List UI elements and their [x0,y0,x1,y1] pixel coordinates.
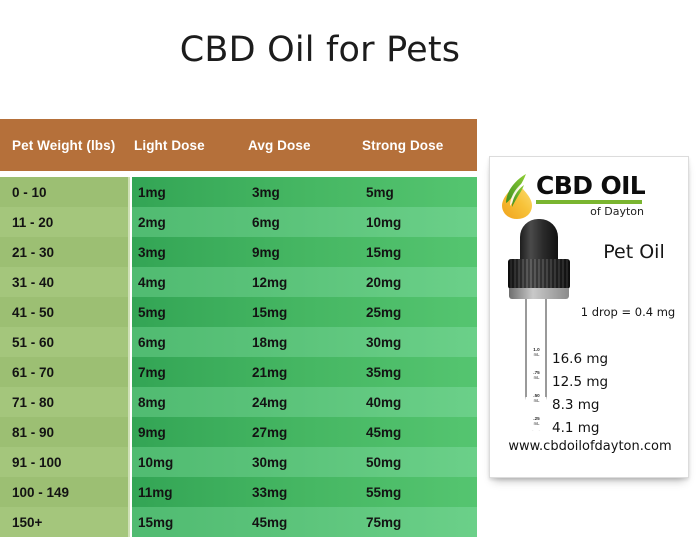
cell-avg-dose: 9mg [252,237,280,267]
pipette-right-edge [545,299,547,397]
dose-table-header: Pet Weight (lbs) Light Dose Avg Dose Str… [0,119,477,171]
column-header-light-dose: Light Dose [134,119,205,171]
cell-avg-dose: 33mg [252,477,287,507]
cell-avg-dose: 15mg [252,297,287,327]
table-row: 81 - 909mg27mg45mg [0,417,477,447]
cell-pet-weight: 21 - 30 [0,237,130,267]
graduation-unit: mL [528,375,545,380]
dropper-dose-list: 16.6 mg12.5 mg8.3 mg4.1 mg [552,347,662,439]
cell-pet-weight: 81 - 90 [0,417,130,447]
table-row: 61 - 707mg21mg35mg [0,357,477,387]
cell-pet-weight: 61 - 70 [0,357,130,387]
table-row: 150+15mg45mg75mg [0,507,477,537]
cell-pet-weight: 51 - 60 [0,327,130,357]
dose-row-background [132,207,477,237]
cell-light-dose: 15mg [138,507,173,537]
cell-light-dose: 4mg [138,267,166,297]
brand-wordmark: CBD OIL of Dayton [536,173,682,218]
droplet-leaf-icon [500,173,534,219]
cell-strong-dose: 5mg [366,177,394,207]
cell-avg-dose: 6mg [252,207,280,237]
table-row: 11 - 202mg6mg10mg [0,207,477,237]
column-header-avg-dose: Avg Dose [248,119,311,171]
table-row: 21 - 303mg9mg15mg [0,237,477,267]
dose-row-background [132,507,477,537]
cell-pet-weight: 100 - 149 [0,477,130,507]
dropper-bulb [520,219,558,263]
cell-strong-dose: 55mg [366,477,401,507]
cell-avg-dose: 24mg [252,387,287,417]
cell-strong-dose: 50mg [366,447,401,477]
dose-row-background [132,267,477,297]
cell-strong-dose: 45mg [366,417,401,447]
graduation-unit: mL [528,398,545,403]
product-label-card: CBD OIL of Dayton Pet Oil 1 drop = 0.4 m… [489,156,689,478]
table-row: 71 - 808mg24mg40mg [0,387,477,417]
cell-pet-weight: 150+ [0,507,130,537]
table-row: 100 - 14911mg33mg55mg [0,477,477,507]
cell-pet-weight: 71 - 80 [0,387,130,417]
cell-pet-weight: 41 - 50 [0,297,130,327]
cell-pet-weight: 0 - 10 [0,177,130,207]
cell-strong-dose: 40mg [366,387,401,417]
table-row: 0 - 101mg3mg5mg [0,177,477,207]
dropper-cap-shading [508,259,570,289]
graduation-unit: mL [528,352,545,357]
dose-row-background [132,387,477,417]
dose-row-background [132,327,477,357]
cell-strong-dose: 15mg [366,237,401,267]
cell-strong-dose: 10mg [366,207,401,237]
graduation-unit: mL [528,421,545,426]
brand-location: of Dayton [536,205,644,218]
dropper-graduation-mark: .25mL [528,416,545,426]
brand-rule [536,200,642,204]
table-row: 31 - 404mg12mg20mg [0,267,477,297]
cell-pet-weight: 31 - 40 [0,267,130,297]
website-url: www.cbdoilofdayton.com [490,439,690,454]
cell-avg-dose: 27mg [252,417,287,447]
dropper-dose-value: 4.1 mg [552,416,662,439]
product-name: Pet Oil [582,241,686,263]
cell-avg-dose: 21mg [252,357,287,387]
cell-pet-weight: 91 - 100 [0,447,130,477]
cell-strong-dose: 75mg [366,507,401,537]
cell-light-dose: 2mg [138,207,166,237]
cell-light-dose: 11mg [138,477,173,507]
dose-row-background [132,447,477,477]
dropper-dose-value: 16.6 mg [552,347,662,370]
table-row: 91 - 10010mg30mg50mg [0,447,477,477]
cell-avg-dose: 45mg [252,507,287,537]
dose-table-body: 0 - 101mg3mg5mg11 - 202mg6mg10mg21 - 303… [0,177,477,539]
dose-row-background [132,477,477,507]
cell-avg-dose: 18mg [252,327,287,357]
dropper-collar [509,288,569,299]
cell-strong-dose: 30mg [366,327,401,357]
page-title: CBD Oil for Pets [0,30,640,70]
dropper-graduation-mark: .75mL [528,370,545,380]
cell-light-dose: 6mg [138,327,166,357]
cell-light-dose: 8mg [138,387,166,417]
cell-strong-dose: 20mg [366,267,401,297]
dose-row-background [132,177,477,207]
dose-row-background [132,417,477,447]
cell-avg-dose: 12mg [252,267,287,297]
column-header-strong-dose: Strong Dose [362,119,443,171]
cell-light-dose: 10mg [138,447,173,477]
dose-row-background [132,237,477,267]
cell-light-dose: 7mg [138,357,166,387]
infographic-root: CBD Oil for Pets Pet Weight (lbs) Light … [0,0,700,550]
dose-row-background [132,297,477,327]
cell-avg-dose: 3mg [252,177,280,207]
cell-avg-dose: 30mg [252,447,287,477]
cell-light-dose: 9mg [138,417,166,447]
cell-strong-dose: 25mg [366,297,401,327]
dropper-dose-value: 12.5 mg [552,370,662,393]
dropper-graduation-mark: 1.0mL [528,347,545,357]
cell-light-dose: 3mg [138,237,166,267]
cell-light-dose: 5mg [138,297,166,327]
dose-row-background [132,357,477,387]
brand-name: CBD OIL [536,173,682,199]
dropper-graduation-mark: .50mL [528,393,545,403]
table-row: 51 - 606mg18mg30mg [0,327,477,357]
table-row: 41 - 505mg15mg25mg [0,297,477,327]
pipette-left-edge [525,299,527,397]
column-header-pet-weight: Pet Weight (lbs) [12,119,115,171]
cell-light-dose: 1mg [138,177,166,207]
cell-strong-dose: 35mg [366,357,401,387]
drop-equivalence-text: 1 drop = 0.4 mg [568,305,688,319]
dropper-dose-value: 8.3 mg [552,393,662,416]
cell-pet-weight: 11 - 20 [0,207,130,237]
